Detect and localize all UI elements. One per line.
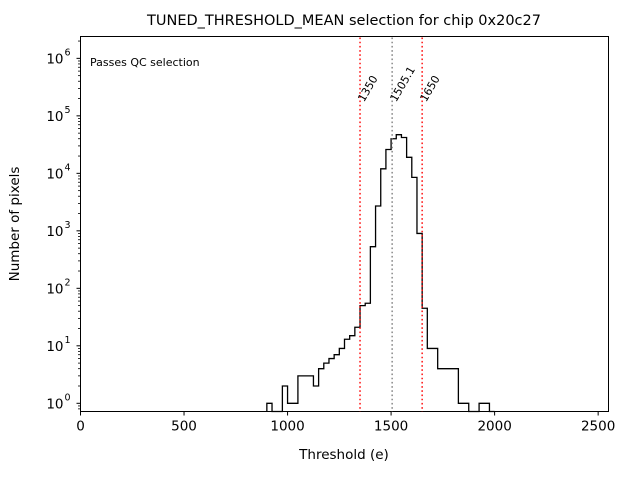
figure-container: TUNED_THRESHOLD_MEAN selection for chip … xyxy=(0,0,640,480)
y-tick-exponent-6: 6 xyxy=(65,47,71,58)
histogram-chart: TUNED_THRESHOLD_MEAN selection for chip … xyxy=(0,0,640,480)
y-axis-label: Number of pixels xyxy=(7,167,23,282)
y-tick-exponent-4: 4 xyxy=(65,162,71,173)
x-tick-label-1000: 1000 xyxy=(270,419,304,435)
y-tick-label-1e4: 10 xyxy=(46,166,63,182)
x-tick-label-2000: 2000 xyxy=(477,419,511,435)
x-tick-label-0: 0 xyxy=(76,419,85,435)
y-tick-label-1e5: 10 xyxy=(46,109,63,125)
x-tick-label-500: 500 xyxy=(171,419,197,435)
y-tick-exponent-3: 3 xyxy=(65,220,71,231)
x-tick-label-2500: 2500 xyxy=(581,419,615,435)
y-tick-label-1e6: 10 xyxy=(46,51,63,67)
x-tick-label-1500: 1500 xyxy=(374,419,408,435)
y-tick-label-1e0: 10 xyxy=(46,396,63,412)
y-tick-label-1e1: 10 xyxy=(46,339,63,355)
chart-title: TUNED_THRESHOLD_MEAN selection for chip … xyxy=(146,13,541,29)
y-tick-label-1e2: 10 xyxy=(46,281,63,297)
y-tick-exponent-0: 0 xyxy=(65,392,71,403)
y-tick-exponent-5: 5 xyxy=(65,105,71,116)
qc-status-annotation: Passes QC selection xyxy=(90,56,200,69)
y-tick-label-1e3: 10 xyxy=(46,224,63,240)
y-tick-exponent-1: 1 xyxy=(65,335,71,346)
x-axis-label: Threshold (e) xyxy=(298,447,389,463)
figure-background xyxy=(0,0,640,480)
y-tick-exponent-2: 2 xyxy=(65,277,71,288)
